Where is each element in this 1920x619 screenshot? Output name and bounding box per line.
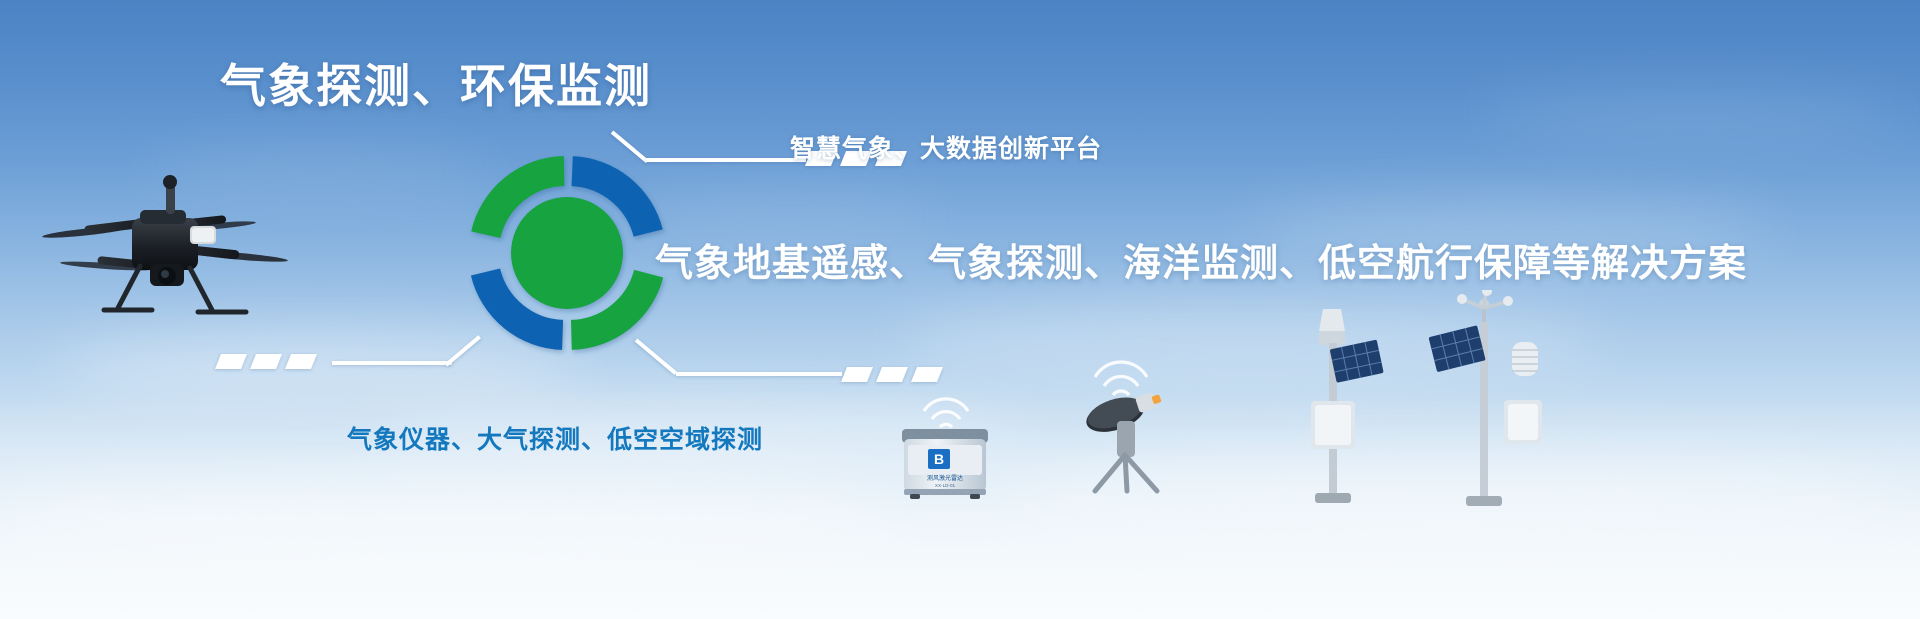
station-base: [1466, 496, 1502, 506]
callout-top-right: 智慧气象、大数据创新平台: [790, 129, 1102, 165]
anemometer-station-photo: [1420, 290, 1550, 510]
case-brand-mark: B: [934, 451, 944, 467]
dash-mark: [841, 367, 873, 382]
dish-tripod-legs: [1095, 455, 1157, 491]
connector-horizontal: [646, 158, 806, 162]
case-label-line1: 测风激光雷达: [927, 474, 963, 482]
satellite-dish-tripod-photo: [1065, 355, 1190, 495]
connector-bottom-right: [636, 338, 936, 408]
dish-signal-waves: [1095, 362, 1147, 395]
connector-dashes: [844, 367, 940, 382]
dash-mark: [911, 367, 943, 382]
connector-bottom-left: [218, 352, 478, 412]
dash-mark: [876, 367, 908, 382]
page-title: 气象探测、环保监测: [220, 50, 652, 116]
banner-root: B 测风激光雷达 XX-LD-01: [0, 0, 1920, 619]
station-solar-panel: [1428, 325, 1485, 372]
anemometer-head: [1457, 290, 1513, 324]
connector-diagonal: [611, 130, 649, 163]
connector-dashes: [218, 354, 314, 369]
drone-body: [132, 175, 216, 286]
headline-solutions: 气象地基遥感、气象探测、海洋监测、低空航行保障等解决方案: [655, 232, 1747, 287]
station-base: [1315, 493, 1351, 503]
dash-mark: [285, 354, 317, 369]
drone-photo: [40, 160, 290, 340]
cloud-wisp: [0, 470, 900, 560]
callout-bottom-left: 气象仪器、大气探测、低空空域探测: [347, 420, 763, 456]
portable-analyzer-case-photo: B 测风激光雷达 XX-LD-01: [890, 395, 1000, 500]
connector-diagonal: [635, 338, 677, 374]
station-rain-gauge: [1319, 309, 1345, 345]
dash-mark: [250, 354, 282, 369]
cloud-wisp: [1480, 90, 1900, 136]
dash-mark: [215, 354, 247, 369]
station-solar-panel: [1330, 340, 1384, 383]
station-radiation-shield: [1512, 342, 1538, 376]
case-label-line2: XX-LD-01: [935, 483, 956, 488]
solar-weather-station-photo: [1275, 305, 1385, 505]
donut-core: [511, 197, 623, 309]
connector-horizontal: [676, 372, 842, 376]
connector-horizontal: [332, 361, 452, 365]
